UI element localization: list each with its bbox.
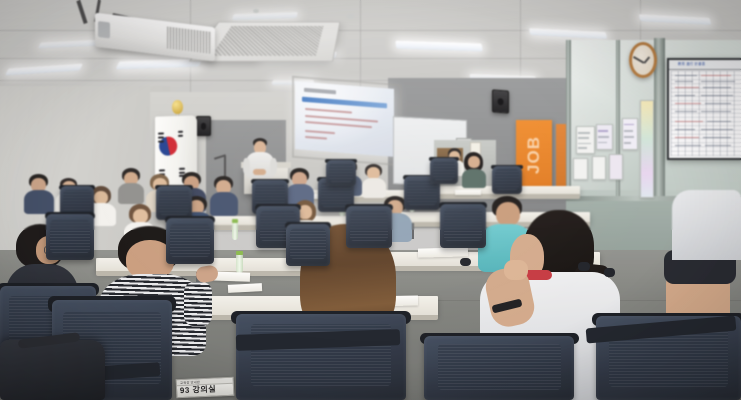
attendee-body xyxy=(118,183,144,204)
office-chair[interactable] xyxy=(166,218,214,264)
wall-speaker-left xyxy=(196,116,211,136)
board-header-text: 教育 進行 計畫表 xyxy=(678,61,705,66)
attendee xyxy=(210,176,238,216)
wall-speaker-right xyxy=(492,89,509,113)
office-chair[interactable] xyxy=(326,160,356,186)
attendee-body xyxy=(210,192,238,216)
attendee-body xyxy=(24,190,54,214)
handout-paper[interactable] xyxy=(418,247,468,257)
board-grid xyxy=(671,71,741,156)
water-bottle[interactable] xyxy=(236,254,243,273)
wall-poster-tall xyxy=(640,100,654,198)
chair-caster xyxy=(604,268,615,277)
bottle-cap xyxy=(236,251,243,255)
room-nameplate: 교육장 안내판 93 강의실 xyxy=(176,377,235,399)
chair-caster xyxy=(578,262,590,271)
office-chair-front[interactable] xyxy=(286,224,330,266)
attendee xyxy=(462,152,486,188)
attendee-arm xyxy=(184,282,212,326)
attendee xyxy=(362,164,386,198)
office-chair[interactable] xyxy=(492,166,522,194)
attendee-body xyxy=(362,178,386,198)
office-chair[interactable] xyxy=(346,206,392,248)
bottle-cap xyxy=(232,219,238,223)
presenter-hand xyxy=(253,169,266,175)
office-chair[interactable] xyxy=(156,186,192,220)
wall-poster xyxy=(622,118,638,150)
presenter-arm-left xyxy=(243,158,250,175)
attendee xyxy=(118,168,144,204)
wall-poster xyxy=(596,124,613,150)
wall-poster xyxy=(609,154,623,180)
sprinkler-head xyxy=(253,9,259,13)
water-bottle[interactable] xyxy=(232,222,238,240)
banner-text: JOB xyxy=(524,136,544,174)
attendee-body xyxy=(672,190,741,260)
flag-finial xyxy=(172,100,183,114)
wall-poster xyxy=(592,156,606,180)
wall-clock xyxy=(629,42,657,78)
projector-lens xyxy=(98,21,110,38)
office-chair[interactable] xyxy=(430,158,458,184)
nameplate-text: 93 강의실 xyxy=(180,384,217,397)
attendee-head xyxy=(133,209,148,223)
clock-minute-hand xyxy=(633,56,644,63)
attendee-body xyxy=(462,169,486,188)
office-chair[interactable] xyxy=(440,204,486,248)
office-chair[interactable] xyxy=(46,214,94,260)
board-header: 教育 進行 計畫表 xyxy=(669,60,741,70)
ac-grille xyxy=(211,26,324,55)
office-chair-front[interactable] xyxy=(236,314,406,400)
office-chair-front[interactable] xyxy=(424,336,574,400)
projector-vent xyxy=(167,26,211,53)
office-chair-front[interactable] xyxy=(596,316,741,400)
backpack-on-floor[interactable] xyxy=(0,340,105,400)
wall-poster xyxy=(576,126,595,154)
presenter xyxy=(243,138,277,180)
speaker-cone xyxy=(201,123,207,129)
attendee-head xyxy=(468,156,480,168)
attendee-hand xyxy=(504,260,528,280)
chair-caster xyxy=(460,258,471,266)
handout-paper[interactable] xyxy=(455,190,481,195)
wall-poster xyxy=(573,158,588,180)
projection-screen xyxy=(295,81,394,157)
speaker-cone xyxy=(497,98,504,106)
sprinkler-head xyxy=(347,14,354,19)
presenter-arm-right xyxy=(270,158,277,175)
seminar-room-photo: JOB 教育 進行 計畫表 xyxy=(0,0,741,400)
attendee xyxy=(24,174,54,214)
wall-schedule-board: 教育 進行 計畫表 xyxy=(667,58,741,160)
